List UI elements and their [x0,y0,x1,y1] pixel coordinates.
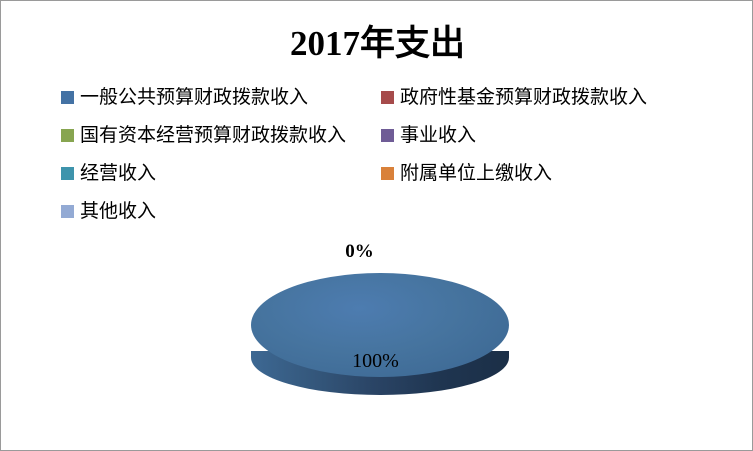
legend-item-operating-income[interactable]: 经营收入 [61,159,156,187]
legend-item-label: 事业收入 [400,126,476,145]
legend-item-label: 国有资本经营预算财政拨款收入 [80,126,346,145]
legend-row: 其他收入 [61,197,701,235]
legend-swatch-icon [61,167,74,180]
legend-item-label: 附属单位上缴收入 [400,164,552,183]
legend-item-label: 其他收入 [80,202,156,221]
legend-item-other-income[interactable]: 其他收入 [61,197,156,225]
legend-row: 国有资本经营预算财政拨款收入 事业收入 [61,121,701,159]
legend-row: 一般公共预算财政拨款收入 政府性基金预算财政拨款收入 [61,83,701,121]
pie-data-label-zero: 0% [0,241,736,263]
legend-swatch-icon [381,129,394,142]
legend-item-subordinate-unit-remittance[interactable]: 附属单位上缴收入 [381,159,552,187]
legend-swatch-icon [381,167,394,180]
chart-legend: 一般公共预算财政拨款收入 政府性基金预算财政拨款收入 国有资本经营预算财政拨款收… [61,83,701,235]
legend-item-label: 经营收入 [80,164,156,183]
pie-chart-3d[interactable] [251,273,509,401]
legend-item-label: 政府性基金预算财政拨款收入 [400,88,647,107]
legend-item-business-income[interactable]: 事业收入 [381,121,476,149]
legend-item-government-fund-budget[interactable]: 政府性基金预算财政拨款收入 [381,83,647,111]
legend-item-state-capital-budget[interactable]: 国有资本经营预算财政拨款收入 [61,121,346,149]
chart-container: 2017年支出 一般公共预算财政拨款收入 政府性基金预算财政拨款收入 国有资本经… [0,0,753,451]
legend-swatch-icon [61,129,74,142]
legend-swatch-icon [61,205,74,218]
legend-swatch-icon [381,91,394,104]
legend-item-general-public-budget[interactable]: 一般公共预算财政拨款收入 [61,83,308,111]
legend-item-label: 一般公共预算财政拨款收入 [80,88,308,107]
legend-swatch-icon [61,91,74,104]
chart-title: 2017年支出 [1,15,753,66]
legend-row: 经营收入 附属单位上缴收入 [61,159,701,197]
pie-data-label-hundred: 100% [0,350,752,373]
